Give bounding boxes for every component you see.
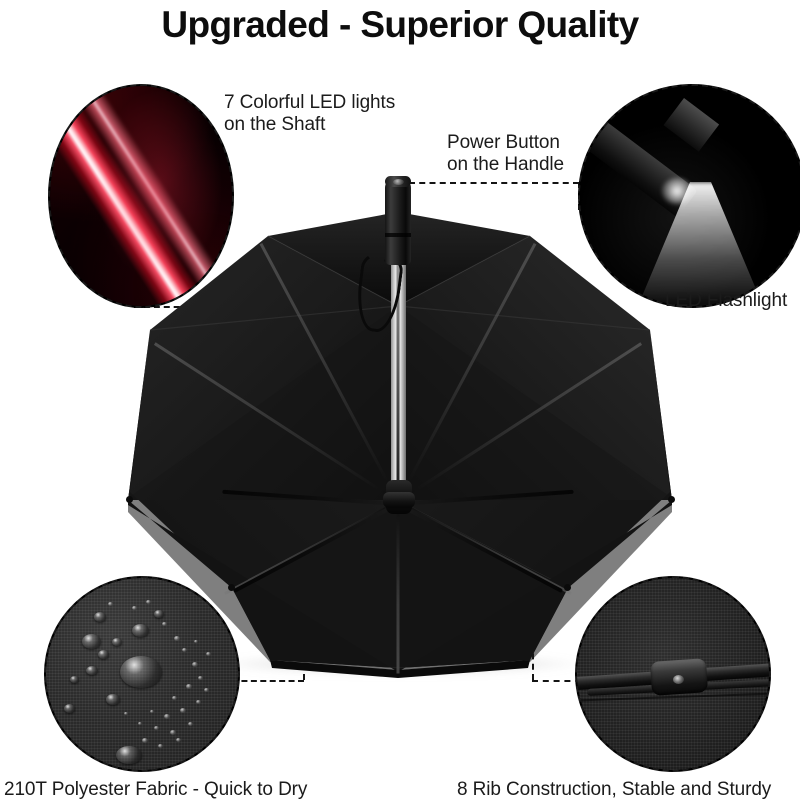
infographic-canvas: Upgraded - Superior Quality bbox=[0, 0, 800, 808]
canopy-runner bbox=[383, 492, 415, 508]
rib-7 bbox=[397, 502, 400, 674]
product-umbrella-image bbox=[0, 0, 800, 808]
power-button-icon[interactable] bbox=[393, 179, 404, 185]
rib-tip-left-low bbox=[228, 584, 235, 591]
rib-tip-right-low bbox=[564, 584, 571, 591]
rib-tip-right bbox=[668, 496, 675, 503]
rib-tip-left bbox=[126, 496, 133, 503]
handle-band bbox=[385, 233, 411, 237]
umbrella-handle bbox=[385, 177, 411, 265]
